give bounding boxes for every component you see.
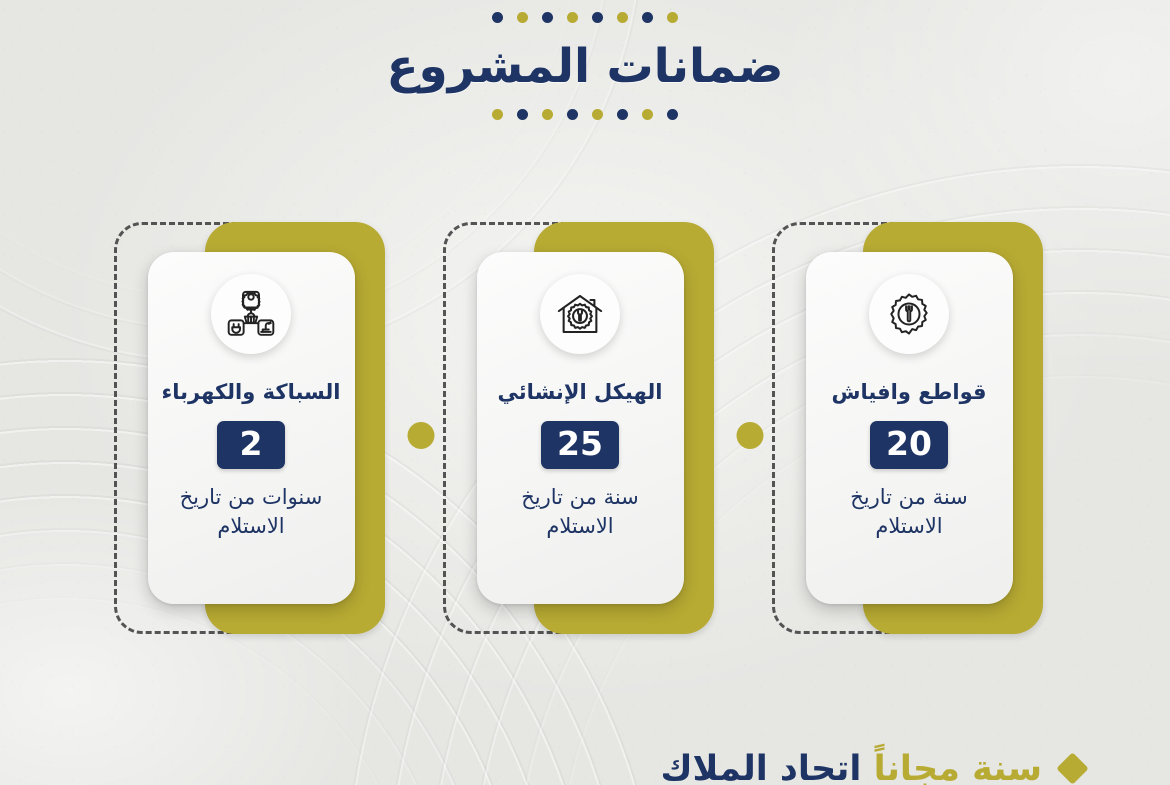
dot-decoration [642, 12, 653, 23]
guarantee-cards-row: قواطع وافياش 20 سنة من تاريخ الاستلام [0, 205, 1170, 655]
page-title: ضمانات المشروع [0, 41, 1170, 93]
dot-decoration [642, 109, 653, 120]
dot-decoration [667, 109, 678, 120]
gear-wrench-icon [869, 274, 949, 354]
card-body: قواطع وافياش 20 سنة من تاريخ الاستلام [806, 252, 1013, 604]
dot-decoration [492, 109, 503, 120]
guarantee-card-breakers[interactable]: قواطع وافياش 20 سنة من تاريخ الاستلام [768, 205, 1061, 645]
dot-decoration [592, 12, 603, 23]
card-body: السباكة والكهرباء 2 سنوات من تاريخ الاست… [148, 252, 355, 604]
dot-decoration [567, 12, 578, 23]
card-number-badge: 25 [541, 421, 619, 469]
card-subtitle: سنة من تاريخ الاستلام [822, 483, 997, 541]
dot-decoration [517, 12, 528, 23]
header: ضمانات المشروع [0, 0, 1170, 120]
footer-highlight-text: سنة مجاناً [874, 749, 1042, 785]
footer: سنة مجاناً اتحاد الملاك [660, 749, 1084, 785]
card-title: قواطع وافياش [832, 380, 987, 405]
house-gear-wrench-icon [540, 274, 620, 354]
card-number-badge: 20 [870, 421, 948, 469]
dot-decoration [517, 109, 528, 120]
dot-decoration [667, 12, 678, 23]
dot-decoration [492, 12, 503, 23]
bottom-dot-row [0, 109, 1170, 120]
card-title: الهيكل الإنشائي [498, 380, 663, 405]
card-subtitle: سنة من تاريخ الاستلام [493, 483, 668, 541]
dot-decoration [617, 109, 628, 120]
footer-text: سنة مجاناً اتحاد الملاك [660, 749, 1042, 785]
dot-decoration [542, 109, 553, 120]
guarantee-card-plumbing-electric[interactable]: السباكة والكهرباء 2 سنوات من تاريخ الاست… [110, 205, 403, 645]
footer-main-text: اتحاد الملاك [660, 749, 861, 785]
diamond-bullet-icon [1056, 753, 1089, 785]
top-dot-row [0, 12, 1170, 23]
connector-dot-icon [736, 422, 763, 449]
card-title: السباكة والكهرباء [162, 380, 341, 405]
dot-decoration [567, 109, 578, 120]
card-connector-2 [403, 205, 439, 645]
dot-decoration [542, 12, 553, 23]
card-connector-1 [732, 205, 768, 645]
guarantee-card-structure[interactable]: الهيكل الإنشائي 25 سنة من تاريخ الاستلام [439, 205, 732, 645]
connector-dot-icon [407, 422, 434, 449]
plumbing-electric-nodes-icon [211, 274, 291, 354]
card-body: الهيكل الإنشائي 25 سنة من تاريخ الاستلام [477, 252, 684, 604]
card-subtitle: سنوات من تاريخ الاستلام [164, 483, 339, 541]
dot-decoration [592, 109, 603, 120]
card-number-badge: 2 [217, 421, 285, 469]
dot-decoration [617, 12, 628, 23]
